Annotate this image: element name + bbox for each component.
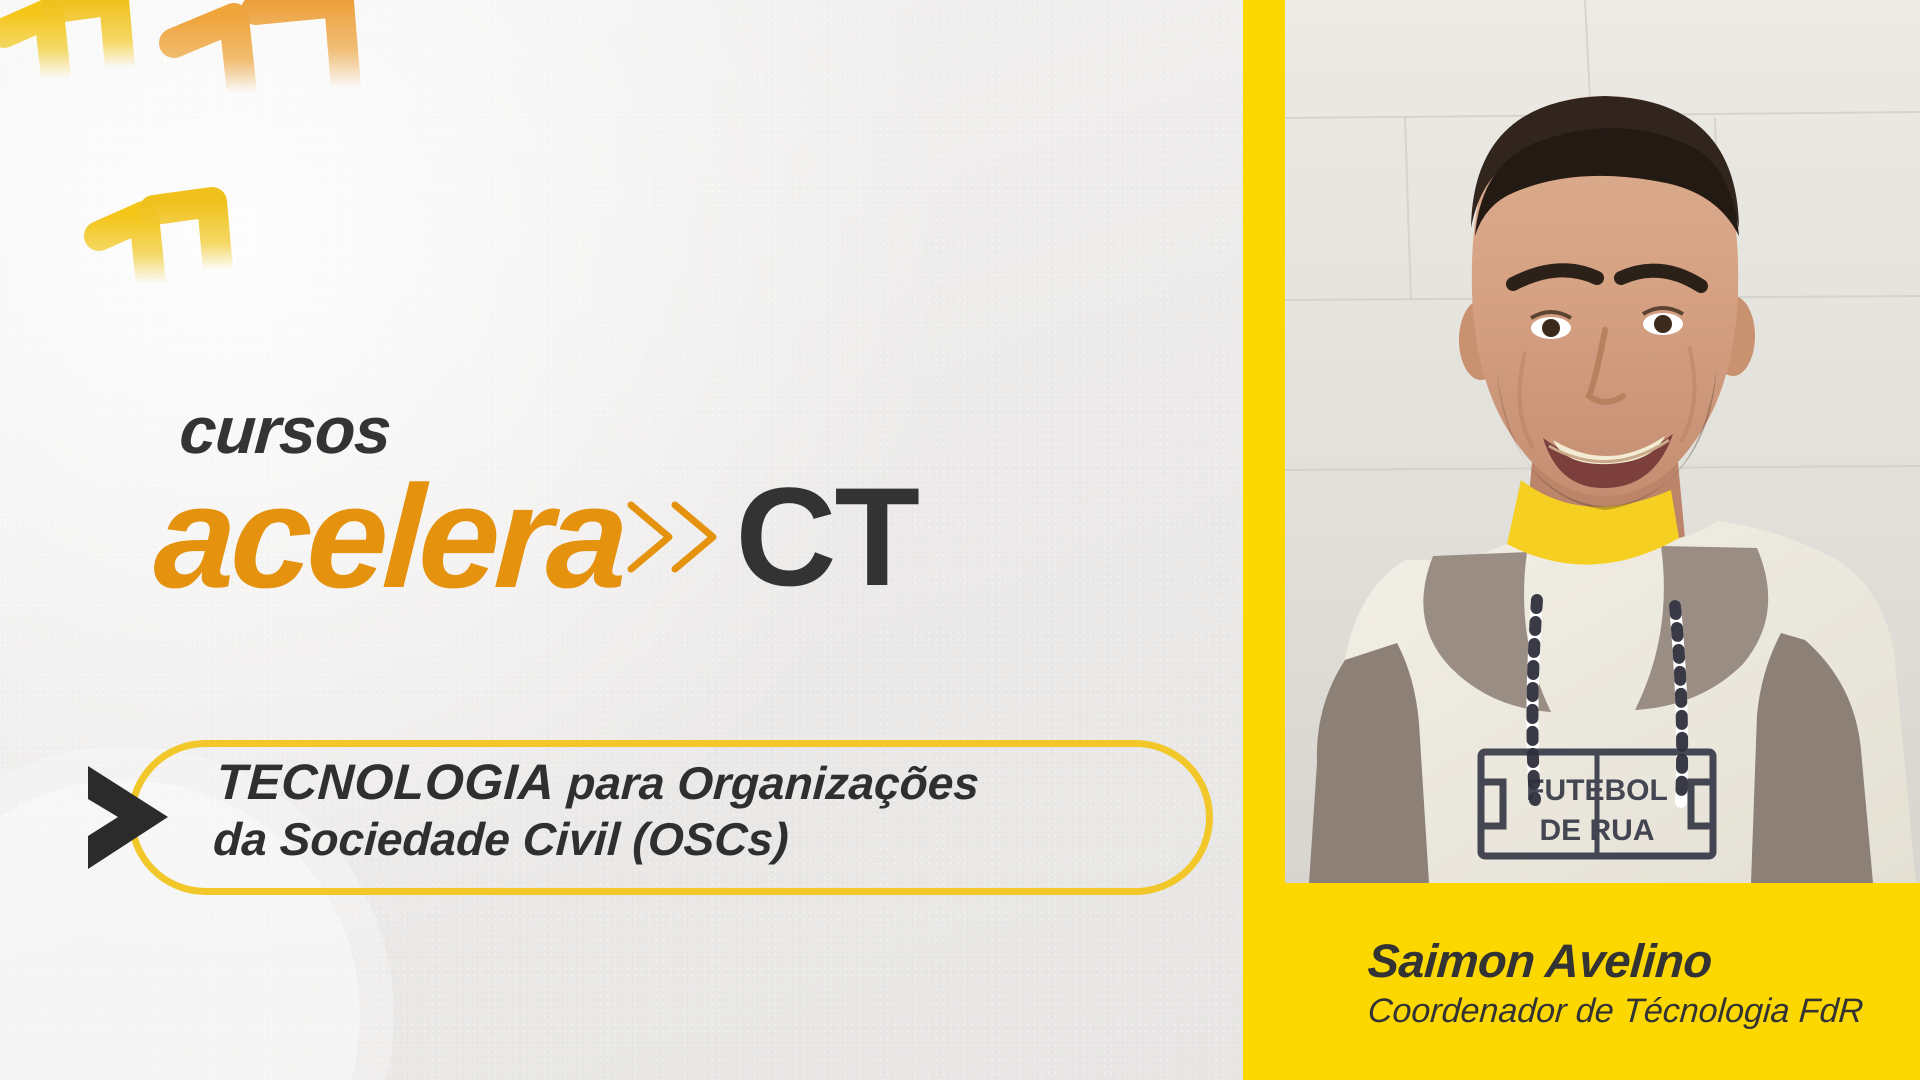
course-title-line-1: TECNOLOGIA para Organizações: [215, 753, 1178, 812]
course-title-emphasis: TECNOLOGIA: [215, 754, 556, 810]
logo-wordmark: acelera CT: [155, 470, 918, 604]
left-panel: cursos acelera CT TECNOLOGIA para Organi…: [0, 0, 1243, 1080]
speaker-role: Coordenador de Técnologia FdR: [1367, 992, 1865, 1031]
hoodie-logo-line-2: DE RUA: [1539, 814, 1654, 847]
logo-word-ct: CT: [735, 473, 918, 602]
double-chevron-right-icon: [617, 489, 729, 585]
chevron-pattern-icon: [0, 0, 424, 328]
course-title-line-2: da Sociedade Civil (OSCs): [212, 812, 1175, 866]
hoodie-logo-line-1: FUTEBOL: [1526, 774, 1668, 807]
chevron-right-icon: [72, 760, 177, 875]
course-title-rest: para Organizações: [553, 757, 980, 809]
speaker-name: Saimon Avelino: [1366, 933, 1714, 988]
logo-word-acelera: acelera: [151, 470, 626, 604]
banner-canvas: cursos acelera CT TECNOLOGIA para Organi…: [0, 0, 1920, 1080]
yellow-divider-bar: [1243, 0, 1285, 1080]
course-title: TECNOLOGIA para Organizações da Sociedad…: [212, 753, 1178, 866]
speaker-photo: FUTEBOL DE RUA: [1285, 0, 1920, 883]
